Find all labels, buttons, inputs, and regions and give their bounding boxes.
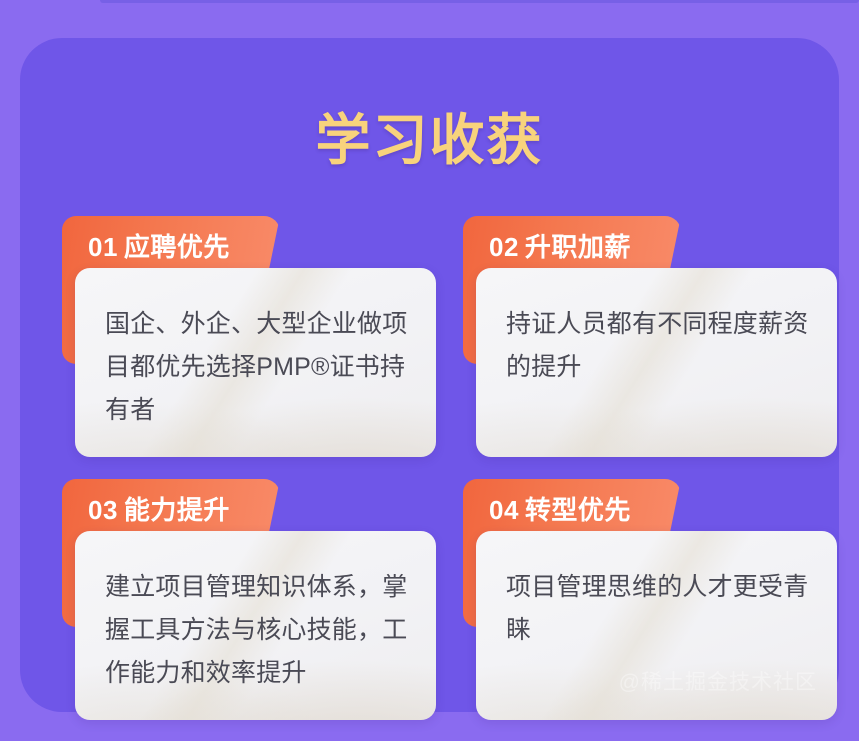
benefit-card-heading: 转型优先 [525, 495, 631, 525]
benefit-card-number: 04 [489, 495, 519, 525]
benefit-card-heading: 应聘优先 [124, 232, 230, 262]
benefit-card-tab-label: 03能力提升 [88, 490, 230, 527]
page-title: 学习收获 [20, 112, 839, 170]
learning-outcomes-panel: 学习收获 01应聘优先 国企、外企、大型企业做项目都优先选择PMP®证书持有者 … [20, 38, 839, 712]
benefit-card-number: 03 [88, 495, 118, 525]
benefit-card-body-text: 建立项目管理知识体系，掌握工具方法与核心技能，工作能力和效率提升 [105, 566, 420, 695]
benefit-card-heading: 升职加薪 [525, 232, 631, 262]
benefit-card-body-text: 项目管理思维的人才更受青睐 [506, 566, 821, 652]
benefit-card-body: 持证人员都有不同程度薪资的提升 [476, 268, 837, 457]
benefit-card-body-text: 持证人员都有不同程度薪资的提升 [506, 303, 821, 389]
benefit-card[interactable]: 03能力提升 建立项目管理知识体系，掌握工具方法与核心技能，工作能力和效率提升 [62, 479, 436, 720]
benefit-card-body-text: 国企、外企、大型企业做项目都优先选择PMP®证书持有者 [105, 303, 420, 432]
benefit-card-body: 建立项目管理知识体系，掌握工具方法与核心技能，工作能力和效率提升 [75, 531, 436, 720]
benefit-card-heading: 能力提升 [124, 495, 230, 525]
benefit-card-body: 国企、外企、大型企业做项目都优先选择PMP®证书持有者 [75, 268, 436, 457]
watermark: @稀土掘金技术社区 [619, 666, 817, 696]
benefit-card-tab-label: 02升职加薪 [489, 227, 631, 264]
benefit-card-number: 01 [88, 232, 118, 262]
benefit-card-tab-label: 01应聘优先 [88, 227, 230, 264]
benefit-card-number: 02 [489, 232, 519, 262]
benefit-card[interactable]: 01应聘优先 国企、外企、大型企业做项目都优先选择PMP®证书持有者 [62, 216, 436, 457]
top-panel-seam [100, 0, 859, 3]
benefit-card-tab-label: 04转型优先 [489, 490, 631, 527]
benefit-card-grid: 01应聘优先 国企、外企、大型企业做项目都优先选择PMP®证书持有者 02升职加… [62, 216, 837, 720]
benefit-card[interactable]: 02升职加薪 持证人员都有不同程度薪资的提升 [463, 216, 837, 457]
